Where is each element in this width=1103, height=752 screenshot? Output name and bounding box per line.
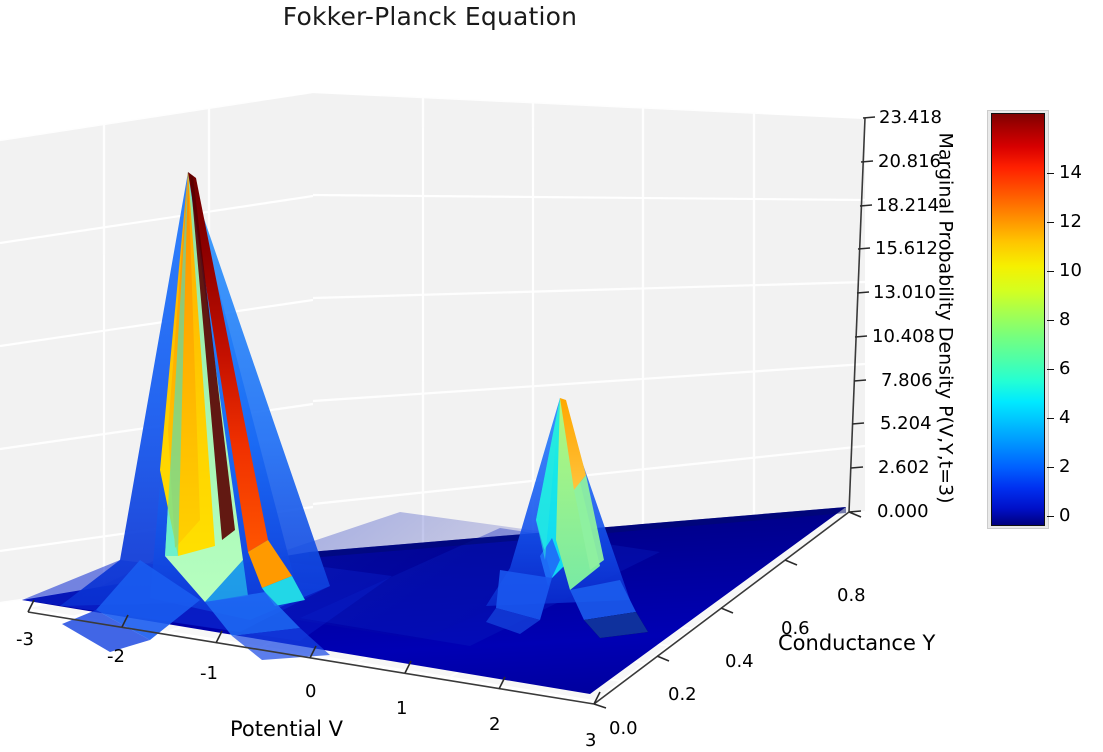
colorbar-tick (1047, 467, 1054, 468)
colorbar-tick (1047, 222, 1054, 223)
colorbar-gradient (991, 113, 1045, 526)
colorbar[interactable]: 0 2 4 6 8 10 12 14 (987, 110, 1049, 529)
x-tick-label: 0 (305, 681, 316, 702)
y-tick-label: 0.8 (837, 585, 866, 606)
z-tick-label: 10.408 (872, 326, 935, 347)
y-tick-label: 0.4 (725, 651, 754, 672)
y-axis-title: Conductance Y (778, 631, 935, 655)
figure-canvas: Fokker-Planck Equation (0, 0, 1103, 752)
colorbar-tick (1047, 271, 1054, 272)
colorbar-tick-label: 14 (1059, 162, 1082, 183)
colorbar-tick (1047, 516, 1054, 517)
z-tick-label: 5.204 (880, 413, 932, 434)
colorbar-tick (1047, 320, 1054, 321)
x-tick-label: 3 (585, 730, 596, 751)
x-tick-label: -2 (107, 646, 125, 667)
colorbar-tick-label: 4 (1059, 407, 1070, 428)
x-tick-label: -3 (16, 629, 34, 650)
colorbar-tick-label: 10 (1059, 260, 1082, 281)
z-tick-label: 7.806 (881, 370, 933, 391)
colorbar-tick-label: 12 (1059, 211, 1082, 232)
x-axis-title: Potential V (230, 717, 343, 741)
colorbar-tick-label: 0 (1059, 505, 1070, 526)
y-tick-label: 0.0 (609, 718, 638, 739)
colorbar-tick-label: 2 (1059, 456, 1070, 477)
x-tick-label: -1 (200, 663, 218, 684)
z-axis-title-text: Marginal Probability Density P(V,Y,t=3) (935, 132, 957, 503)
z-tick-label: 13.010 (873, 282, 936, 303)
y-tick-label: 0.2 (668, 684, 697, 705)
z-tick-label: 2.602 (878, 457, 930, 478)
z-tick-label: 0.000 (877, 501, 929, 522)
x-tick-label: 1 (396, 698, 407, 719)
colorbar-tick-label: 6 (1059, 358, 1070, 379)
colorbar-tick (1047, 173, 1054, 174)
colorbar-tick (1047, 418, 1054, 419)
x-tick-label: 2 (489, 714, 500, 735)
colorbar-tick (1047, 369, 1054, 370)
z-axis-title: Marginal Probability Density P(V,Y,t=3) (929, 98, 963, 538)
colorbar-tick-label: 8 (1059, 309, 1070, 330)
